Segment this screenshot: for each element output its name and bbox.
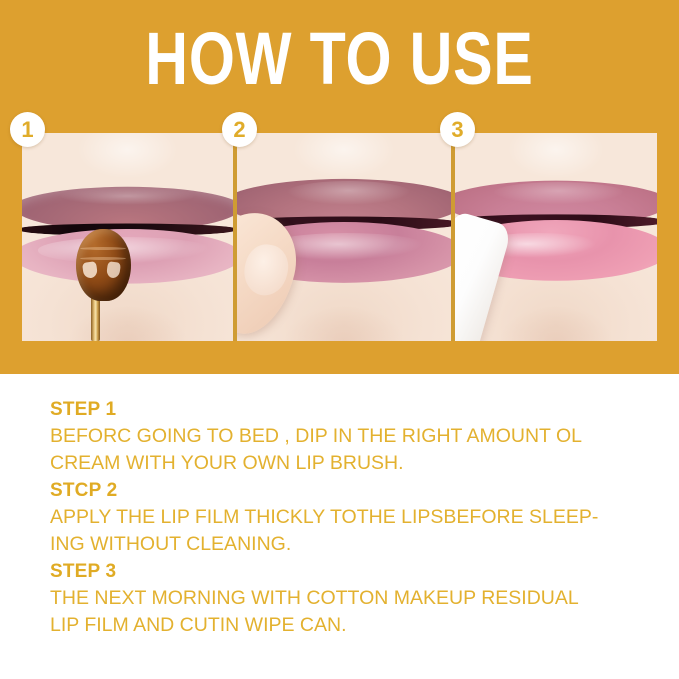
- step-badge-1: 1: [10, 112, 45, 147]
- step-3-body: THE NEXT MORNING WITH COTTON MAKEUP RESI…: [50, 585, 631, 639]
- step-2-body: APPLY THE LIP FILM THICKLY TOTHE LIPSBEF…: [50, 504, 631, 558]
- photo-step-2: [237, 133, 451, 341]
- photo-strip: [22, 133, 657, 341]
- step-1-body: BEFORC GOING TO BED , DIP IN THE RIGHT A…: [50, 423, 631, 477]
- bead-ridge-bottom: [80, 257, 126, 260]
- page-title: HOW TO USE: [68, 22, 611, 96]
- step-2-heading: STCP 2: [50, 477, 631, 504]
- applicator-bead-icon: [76, 229, 131, 301]
- step-badge-3: 3: [440, 112, 475, 147]
- fingernail-icon: [239, 240, 292, 299]
- instructions-panel: STEP 1 BEFORC GOING TO BED , DIP IN THE …: [0, 374, 679, 679]
- bead-ridge-top: [80, 247, 126, 250]
- step-3-heading: STEP 3: [50, 558, 631, 585]
- step-1-heading: STEP 1: [50, 396, 631, 423]
- photo-step-1: [22, 133, 233, 341]
- photo-step-3: [455, 133, 657, 341]
- step-badge-2: 2: [222, 112, 257, 147]
- header-panel: HOW TO USE: [0, 0, 679, 374]
